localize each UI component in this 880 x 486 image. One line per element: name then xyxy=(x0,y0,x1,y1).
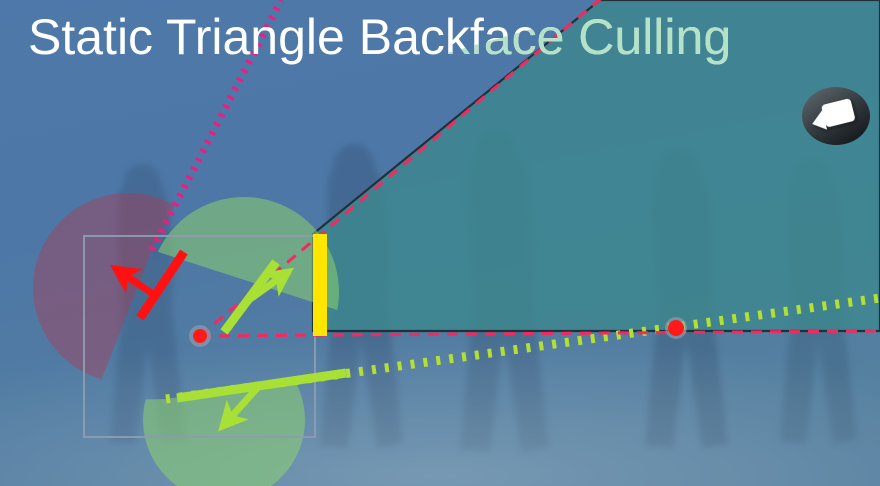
plane-intersection-point[interactable] xyxy=(665,317,687,339)
video-camera-badge[interactable] xyxy=(800,85,872,147)
key-points-layer xyxy=(0,0,880,486)
eye-point[interactable] xyxy=(189,325,211,347)
slide-canvas: Static Triangle Backface Culling Static … xyxy=(0,0,880,486)
